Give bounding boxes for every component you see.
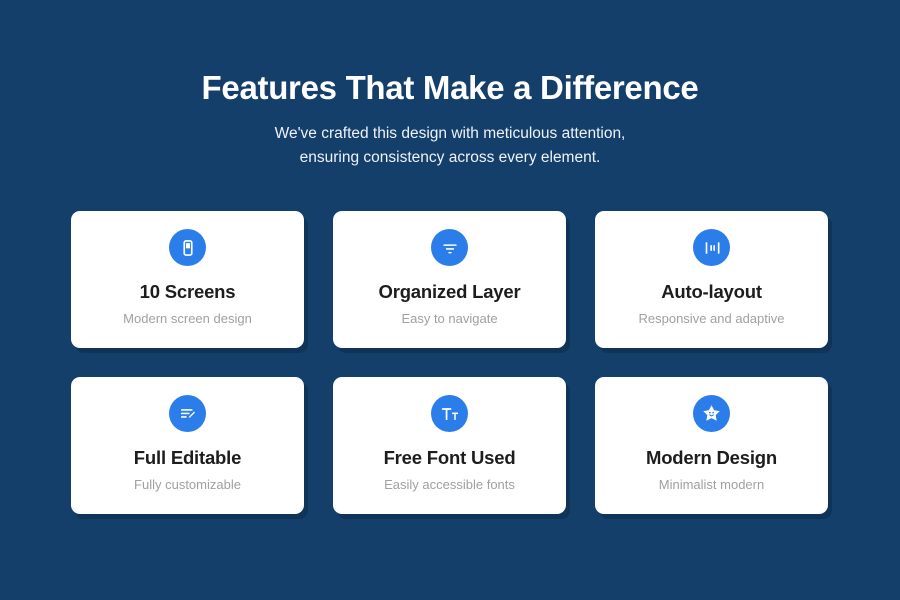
feature-card-title: Free Font Used <box>384 448 516 468</box>
feature-card-subtitle: Responsive and adaptive <box>639 311 785 327</box>
auto-layout-bars-icon <box>693 229 730 266</box>
feature-card[interactable]: Organized Layer Easy to navigate <box>333 211 566 348</box>
feature-card-subtitle: Modern screen design <box>123 311 252 327</box>
typography-tt-icon <box>431 395 468 432</box>
pencil-edit-icon <box>169 395 206 432</box>
feature-card-subtitle: Easy to navigate <box>401 311 497 327</box>
section-subtitle: We've crafted this design with meticulou… <box>0 122 900 170</box>
filter-lines-icon <box>431 229 468 266</box>
feature-card-title: Full Editable <box>134 448 241 468</box>
feature-card[interactable]: Free Font Used Easily accessible fonts <box>333 377 566 514</box>
feature-card[interactable]: 10 Screens Modern screen design <box>71 211 304 348</box>
page-title: Features That Make a Difference <box>0 70 900 106</box>
feature-card-subtitle: Easily accessible fonts <box>384 477 515 493</box>
section-subtitle-line-1: We've crafted this design with meticulou… <box>0 122 900 146</box>
feature-card-title: Auto-layout <box>661 282 762 302</box>
feature-card[interactable]: Auto-layout Responsive and adaptive <box>595 211 828 348</box>
section-subtitle-line-2: ensuring consistency across every elemen… <box>0 146 900 170</box>
feature-card[interactable]: Modern Design Minimalist modern <box>595 377 828 514</box>
feature-card-title: Modern Design <box>646 448 777 468</box>
feature-card-title: 10 Screens <box>140 282 236 302</box>
feature-card-grid: 10 Screens Modern screen design Organize… <box>71 211 829 514</box>
star-smile-icon <box>693 395 730 432</box>
mobile-phone-icon <box>169 229 206 266</box>
section-header: Features That Make a Difference We've cr… <box>0 0 900 170</box>
feature-card-title: Organized Layer <box>379 282 521 302</box>
feature-card[interactable]: Full Editable Fully customizable <box>71 377 304 514</box>
features-section: Features That Make a Difference We've cr… <box>0 0 900 600</box>
feature-card-subtitle: Minimalist modern <box>659 477 764 493</box>
feature-card-subtitle: Fully customizable <box>134 477 241 493</box>
